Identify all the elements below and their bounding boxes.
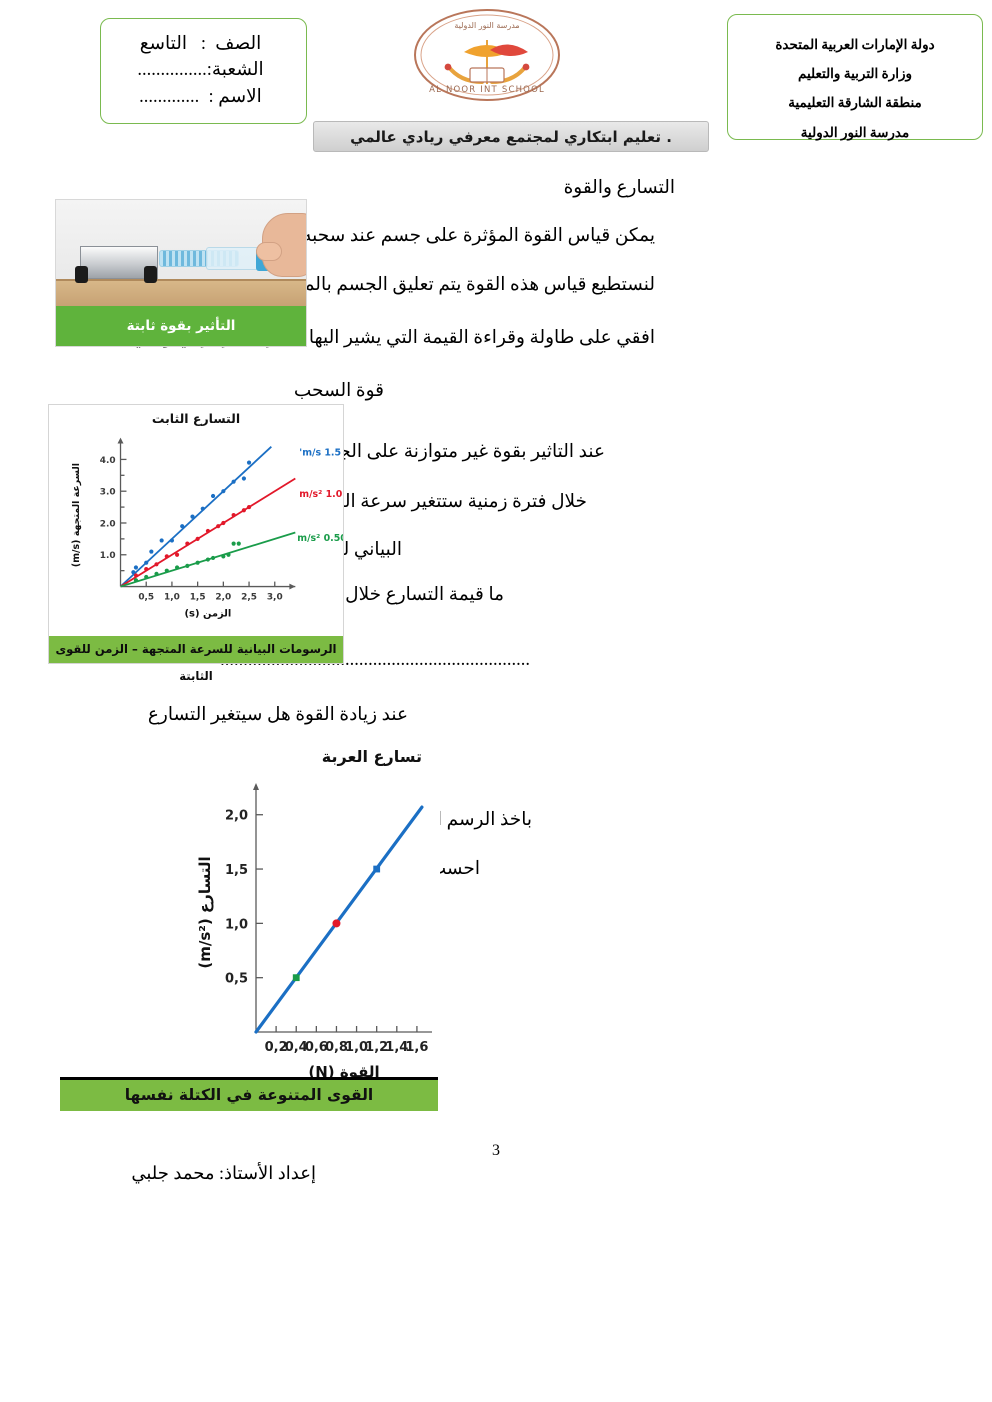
svg-text:1,6: 1,6: [405, 1040, 428, 1055]
svg-text:مدرسة النور الدولية: مدرسة النور الدولية: [454, 21, 519, 30]
svg-text:3,0: 3,0: [267, 592, 283, 602]
worksheet-page: الصف : التاسع الشعبة:............... الا…: [0, 0, 992, 1402]
cart-wheel-left: [75, 266, 88, 283]
svg-text:1.0: 1.0: [100, 551, 116, 561]
figure1-caption: الرسومات البيانية للسرعة المتجهة – الزمن…: [49, 636, 343, 663]
photo-caption: التأثير بقوة ثابتة: [56, 306, 306, 346]
svg-text:1,5: 1,5: [225, 863, 248, 878]
cart-acceleration-chart: تسارع العربة 0,20,40,60,81,01,21,41,60,5…: [60, 745, 440, 1090]
figure2-caption: القوى المتنوعة في الكتلة نفسها: [60, 1077, 438, 1111]
svg-text:الزمن (s): الزمن (s): [185, 608, 232, 619]
svg-text:1,0: 1,0: [225, 917, 248, 932]
zone-label: منطقة الشارقة التعليمية: [728, 95, 982, 111]
svg-text:2,5: 2,5: [241, 592, 257, 602]
svg-text:1,5: 1,5: [190, 592, 206, 602]
prepared-by-label: إعداد الأستاذ: محمد جلبي: [131, 1163, 316, 1184]
svg-text:0,5: 0,5: [225, 972, 248, 987]
svg-text:AL NOOR INT SCHOOL: AL NOOR INT SCHOOL: [429, 85, 545, 95]
svg-text:0,5: 0,5: [138, 592, 154, 602]
cart-wheel-right: [144, 266, 157, 283]
constant-acceleration-chart: التسارع الثابت 0,51,01,52,02,53,01.02.03…: [48, 404, 344, 664]
thumb: [256, 242, 282, 261]
svg-text:3.0: 3.0: [100, 488, 116, 498]
country-label: دولة الإمارات العربية المتحدة: [728, 37, 982, 53]
name-field: الاسم : .............: [101, 84, 306, 110]
constant-force-experiment-photo: التأثير بقوة ثابتة: [55, 199, 307, 347]
student-info-box: الصف : التاسع الشعبة:............... الا…: [100, 18, 307, 124]
school-seal-logo: مدرسة النور الدولية AL NOOR INT SCHOOL: [404, 6, 570, 104]
svg-text:4.0: 4.0: [100, 456, 116, 466]
school-motto-banner: . تعليم ابتكاري لمجتمع معرفي ريادي عالمي: [313, 121, 709, 152]
svg-text:2.0: 2.0: [100, 519, 116, 529]
ministry-info-box: دولة الإمارات العربية المتحدة وزارة التر…: [727, 14, 983, 140]
page-title: التسارع والقوة: [564, 176, 675, 200]
svg-text:الميل – 1.0 m/s²: الميل – 1.0 m/s²: [299, 489, 343, 500]
svg-text:السرعة المتجهة (m/s): السرعة المتجهة (m/s): [71, 463, 82, 567]
svg-text:1,0: 1,0: [164, 592, 180, 602]
section-field: الشعبة:...............: [101, 57, 306, 83]
table-surface: [56, 279, 306, 307]
paragraph-line-4: قوة السحب: [294, 379, 384, 403]
svg-text:الميل – 0.50 m/s²: الميل – 0.50 m/s²: [297, 533, 343, 544]
svg-text:2,0: 2,0: [215, 592, 231, 602]
svg-text:الميل – 1.5 m/s': الميل – 1.5 m/s': [299, 447, 343, 458]
chart2-title: تسارع العربة: [322, 747, 422, 766]
question-line-5: عند زيادة القوة هل سيتغير التسارع: [148, 703, 408, 727]
school-label: مدرسة النور الدولية: [728, 125, 982, 141]
svg-text:2,0: 2,0: [225, 809, 248, 824]
svg-text:التسارع (m/s²): التسارع (m/s²): [196, 856, 214, 968]
chart1-title: التسارع الثابت: [49, 411, 343, 426]
class-field: الصف : التاسع: [101, 31, 306, 57]
photo-scene: [56, 200, 306, 307]
page-number: 3: [0, 1142, 992, 1160]
ministry-label: وزارة التربية والتعليم: [728, 66, 982, 82]
